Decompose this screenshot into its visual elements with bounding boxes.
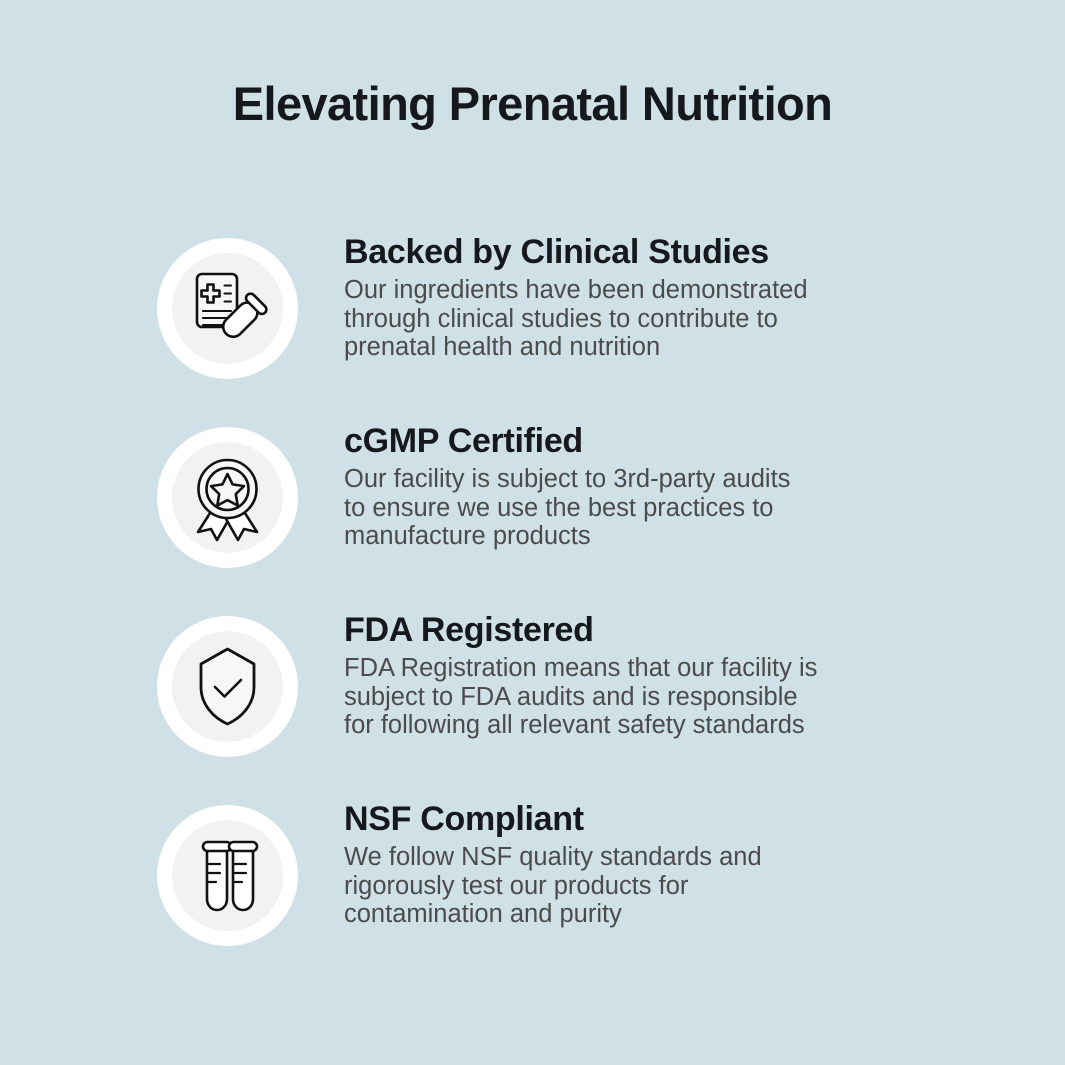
feature-heading: cGMP Certified [344,422,904,461]
feature-text-block: NSF Compliant We follow NSF quality stan… [344,800,904,929]
feature-text-block: FDA Registered FDA Registration means th… [344,611,904,740]
feature-heading: NSF Compliant [344,800,904,839]
feature-icon-container [157,805,298,946]
feature-icon-container [157,238,298,379]
feature-item-nsf-compliant: NSF Compliant We follow NSF quality stan… [0,800,1065,989]
feature-item-cgmp-certified: cGMP Certified Our facility is subject t… [0,422,1065,611]
infographic-page: Elevating Prenatal Nutrition [0,0,1065,1065]
test-tubes-icon [183,831,272,920]
feature-description: FDA Registration means that our facility… [344,654,904,740]
clipboard-test-tube-icon [183,264,272,353]
feature-icon-container [157,427,298,568]
feature-description: We follow NSF quality standards and rigo… [344,843,904,929]
award-medal-icon [183,453,272,542]
shield-check-icon [183,642,272,731]
page-title: Elevating Prenatal Nutrition [0,78,1065,130]
feature-icon-container [157,616,298,757]
feature-heading: Backed by Clinical Studies [344,233,904,272]
feature-description: Our ingredients have been demonstrated t… [344,276,904,362]
feature-text-block: Backed by Clinical Studies Our ingredien… [344,233,904,362]
feature-item-fda-registered: FDA Registered FDA Registration means th… [0,611,1065,800]
feature-list: Backed by Clinical Studies Our ingredien… [0,233,1065,989]
feature-text-block: cGMP Certified Our facility is subject t… [344,422,904,551]
feature-description: Our facility is subject to 3rd-party aud… [344,465,904,551]
feature-heading: FDA Registered [344,611,904,650]
feature-item-backed-by-clinical-studies: Backed by Clinical Studies Our ingredien… [0,233,1065,422]
